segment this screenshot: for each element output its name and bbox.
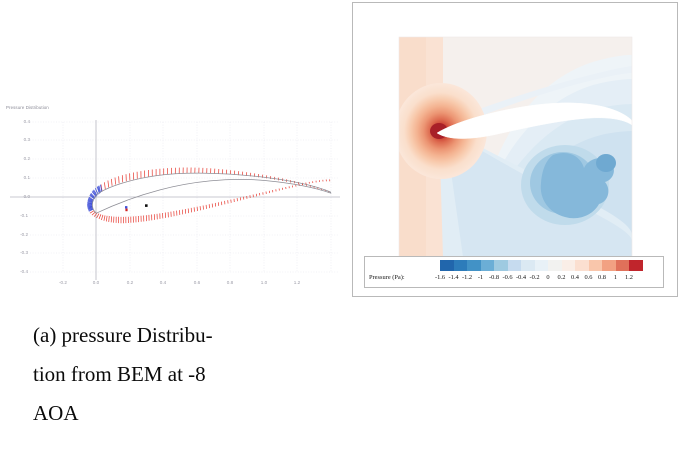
colorbar-swatch-13 [616, 260, 630, 271]
colorbar-swatch-5 [508, 260, 522, 271]
bem-xtick-4: 0.6 [185, 280, 209, 285]
colorbar-swatch-12 [602, 260, 616, 271]
bem-xtick-0: -0.2 [51, 280, 75, 285]
marker-center-of-pressure [125, 209, 127, 212]
bem-xtick-7: 1.2 [285, 280, 309, 285]
bem-xtick-6: 1.0 [252, 280, 276, 285]
colorbar-swatch-2 [467, 260, 481, 271]
cfd-contour-canvas [353, 3, 677, 296]
marker-center-of-pressure-blue [125, 206, 127, 208]
bem-pressure-plot: Pressure Distribution [0, 100, 345, 300]
colorbar-swatch-11 [589, 260, 603, 271]
colorbar-swatch-4 [494, 260, 508, 271]
bem-xtick-5: 0.8 [218, 280, 242, 285]
airfoil-outline [92, 173, 330, 213]
panel-b-cfd: Pressure (Pa): -1.6 -1.4 -1.2 -1 -0.8 -0… [352, 0, 685, 465]
bem-plot-canvas [0, 100, 345, 300]
caption-a-line-1: (a) pressure Distribu- [33, 316, 323, 355]
bem-ytick-4: 0.0 [10, 194, 30, 199]
lower-surface-vectors [90, 179, 330, 223]
colorbar-swatch-7 [535, 260, 549, 271]
caption-a-line-3: AOA [33, 394, 323, 433]
colorbar-swatch-10 [575, 260, 589, 271]
colorbar-swatch-3 [481, 260, 495, 271]
bem-ytick-5: -0.1 [8, 213, 28, 218]
colorbar-swatch-14 [629, 260, 643, 271]
bem-ytick-2: 0.2 [10, 156, 30, 161]
caption-panel-a: (a) pressure Distribu- tion from BEM at … [33, 316, 323, 433]
bem-ytick-7: -0.3 [8, 250, 28, 255]
bem-ytick-6: -0.2 [8, 232, 28, 237]
bem-ytick-8: -0.4 [8, 269, 28, 274]
colorbar-swatch-1 [454, 260, 468, 271]
bem-xtick-3: 0.4 [151, 280, 175, 285]
low-pressure-lobe-nub [596, 154, 616, 172]
bem-xtick-2: 0.2 [118, 280, 142, 285]
colorbar-tick-14: 1.2 [621, 274, 637, 281]
cfd-colorbar: Pressure (Pa): -1.6 -1.4 -1.2 -1 -0.8 -0… [364, 256, 664, 288]
colorbar-swatch-9 [562, 260, 576, 271]
panel-a-bem: Pressure Distribution [0, 0, 345, 465]
bem-ytick-1: 0.3 [10, 137, 30, 142]
cfd-contour-frame [352, 2, 678, 297]
colorbar-label: Pressure (Pa): [369, 274, 405, 281]
marker-aerodynamic-center [145, 204, 148, 207]
bem-xtick-1: 0.0 [84, 280, 108, 285]
bem-ytick-3: 0.1 [10, 175, 30, 180]
colorbar-swatch-0 [440, 260, 454, 271]
bem-ytick-0: 0.4 [10, 119, 30, 124]
colorbar-swatch-6 [521, 260, 535, 271]
colorbar-swatch-8 [548, 260, 562, 271]
caption-a-line-2: tion from BEM at -8 [33, 355, 323, 394]
